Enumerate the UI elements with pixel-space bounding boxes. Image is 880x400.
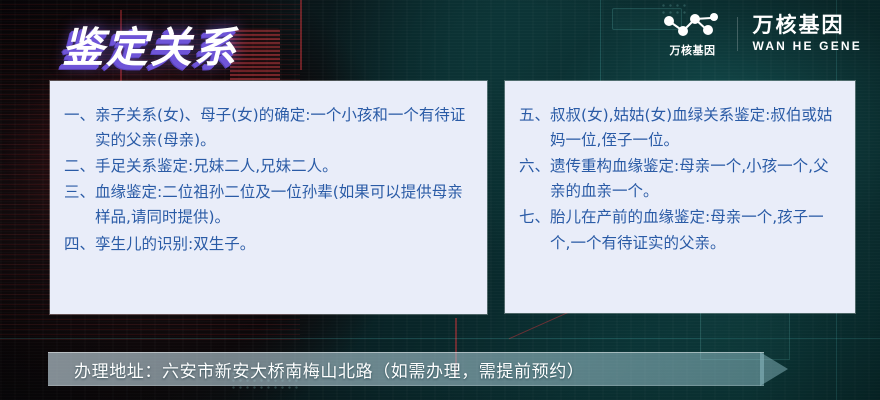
list-item-number: 四、 [64,232,95,257]
list-item-text: 亲子关系(女)、母子(女)的确定:一个小孩和一个有待证实的父亲(母亲)。 [95,103,473,153]
list-item-text: 遗传重构血缘鉴定:母亲一个,小孩一个,父亲的血亲一个。 [550,154,841,204]
list-item: 七、 胎儿在产前的血缘鉴定:母亲一个,孩子一个,一个有待证实的父亲。 [519,205,841,255]
list-item: 四、 孪生儿的识别:双生子。 [64,232,473,257]
list-item-text: 孪生儿的识别:双生子。 [95,232,473,257]
brand-name-en: WAN HE GENE [752,39,862,53]
list-item-number: 五、 [519,103,550,153]
list-item-number: 六、 [519,154,550,204]
list-item-number: 二、 [64,154,95,179]
list-item-number: 七、 [519,205,550,255]
list-item: 二、 手足关系鉴定:兄妹二人,兄妹二人。 [64,154,473,179]
logo-divider [737,17,738,51]
list-item: 六、 遗传重构血缘鉴定:母亲一个,小孩一个,父亲的血亲一个。 [519,154,841,204]
list-item-text: 胎儿在产前的血缘鉴定:母亲一个,孩子一个,一个有待证实的父亲。 [550,205,841,255]
list-item-number: 三、 [64,180,95,230]
footer-arrow-accent [760,352,788,386]
list-item-text: 手足关系鉴定:兄妹二人,兄妹二人。 [95,154,473,179]
page-title: 鉴定关系 [62,14,238,75]
logo-wordmark: 万核基因 WAN HE GENE [752,14,862,52]
logo-mark: 万核基因 [661,9,723,58]
footer-address-bar: 办理地址：六安市新安大桥南梅山北路（如需办理，需提前预约） [48,352,764,386]
info-panel-right: 五、 叔叔(女),姑姑(女)血绿关系鉴定:叔伯或姑妈一位,侄子一位。 六、 遗传… [505,81,855,313]
list-item-text: 叔叔(女),姑姑(女)血绿关系鉴定:叔伯或姑妈一位,侄子一位。 [550,103,841,153]
list-item-text: 血缘鉴定:二位祖孙二位及一位孙辈(如果可以提供母亲样品,请同时提供)。 [95,180,473,230]
logo-mark-caption: 万核基因 [669,42,715,58]
info-panel-left: 一、 亲子关系(女)、母子(女)的确定:一个小孩和一个有待证实的父亲(母亲)。 … [50,81,487,314]
list-item: 一、 亲子关系(女)、母子(女)的确定:一个小孩和一个有待证实的父亲(母亲)。 [64,103,473,153]
list-item: 三、 血缘鉴定:二位祖孙二位及一位孙辈(如果可以提供母亲样品,请同时提供)。 [64,180,473,230]
list-item-number: 一、 [64,103,95,153]
list-item: 五、 叔叔(女),姑姑(女)血绿关系鉴定:叔伯或姑妈一位,侄子一位。 [519,103,841,153]
footer-address-text: 办理地址：六安市新安大桥南梅山北路（如需办理，需提前预约） [74,357,584,382]
brand-logo: 万核基因 万核基因 WAN HE GENE [661,9,862,58]
poster-canvas: 鉴定关系 [0,0,880,400]
brand-name-cn: 万核基因 [752,14,862,36]
molecule-network-icon [661,9,723,39]
